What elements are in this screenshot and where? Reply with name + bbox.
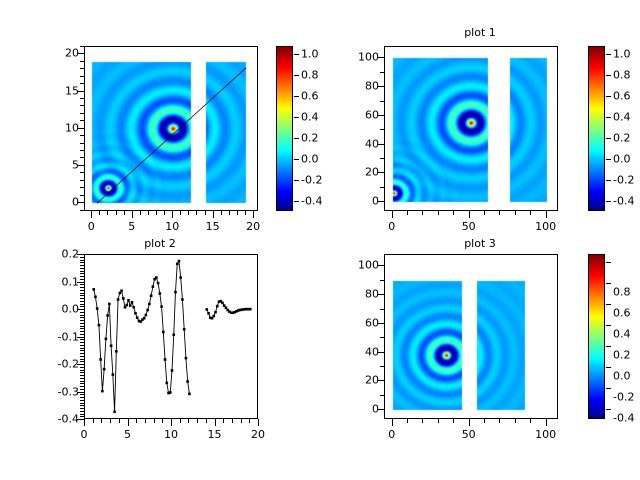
x-tick-label: 50 — [462, 428, 476, 441]
y-minor-tick — [80, 187, 84, 188]
data-point-marker — [96, 307, 99, 310]
y-minor-tick — [80, 135, 84, 136]
x-minor-tick — [407, 419, 408, 423]
y-minor-tick — [80, 276, 84, 277]
colorbar-tick — [606, 138, 611, 139]
y-tick-label: 15 — [46, 84, 79, 97]
y-minor-tick — [80, 268, 84, 269]
colorbar-tick — [606, 159, 611, 160]
y-tick-label: -0.1 — [46, 330, 79, 343]
y-minor-tick — [80, 356, 84, 357]
colorbar-tick — [606, 346, 611, 347]
y-minor-tick — [80, 345, 84, 346]
data-point-marker — [214, 311, 217, 314]
data-point-marker — [164, 358, 167, 361]
x-major-tick — [392, 211, 393, 218]
x-minor-tick — [110, 419, 111, 423]
y-tick-label: 0 — [346, 402, 379, 415]
colorbar-tick-label: -0.2 — [613, 390, 634, 403]
x-minor-tick — [107, 211, 108, 215]
colorbar-tick — [606, 262, 611, 263]
y-minor-tick — [380, 187, 384, 188]
y-minor-tick — [80, 400, 84, 401]
panel-bottom-right-colorbar — [588, 254, 605, 419]
x-major-tick — [253, 211, 254, 218]
data-point-marker — [216, 305, 219, 308]
y-minor-tick — [80, 339, 84, 340]
y-minor-tick — [80, 295, 84, 296]
data-point-marker — [150, 294, 153, 297]
colorbar-tick-label: 1.0 — [613, 48, 631, 61]
y-minor-tick — [380, 280, 384, 281]
x-minor-tick — [530, 211, 531, 215]
data-point-marker — [221, 302, 224, 305]
x-tick-label: 0 — [388, 220, 395, 233]
data-point-marker — [117, 298, 120, 301]
data-point-marker — [148, 303, 151, 306]
y-minor-tick — [80, 76, 84, 77]
y-tick-label: 60 — [346, 108, 379, 121]
x-minor-tick — [237, 211, 238, 215]
colorbar-tick — [294, 117, 299, 118]
data-point-marker — [110, 344, 113, 347]
x-minor-tick — [180, 419, 181, 423]
data-point-marker — [108, 303, 111, 306]
data-point-marker — [94, 296, 97, 299]
colorbar-tick-label: 0.8 — [613, 286, 631, 299]
x-major-tick — [172, 211, 173, 218]
y-tick-label: 0.1 — [46, 275, 79, 288]
data-point-marker — [132, 306, 135, 309]
x-minor-tick — [484, 419, 485, 423]
data-point-marker — [105, 338, 108, 341]
data-point-marker — [160, 305, 163, 308]
x-minor-tick — [223, 419, 224, 423]
panel-bottom-right-colorbar-gradient — [589, 255, 605, 419]
y-minor-tick — [80, 293, 84, 294]
x-minor-tick — [484, 211, 485, 215]
colorbar-tick — [606, 304, 611, 305]
x-minor-tick — [422, 419, 423, 423]
y-minor-tick — [80, 367, 84, 368]
data-point-marker — [183, 328, 186, 331]
x-tick-label: 20 — [251, 428, 265, 441]
data-point-marker — [106, 314, 109, 317]
y-minor-tick — [80, 408, 84, 409]
y-minor-tick — [80, 271, 84, 272]
y-minor-tick — [80, 61, 84, 62]
y-minor-tick — [80, 46, 84, 47]
y-minor-tick — [80, 260, 84, 261]
data-point-marker — [98, 324, 101, 327]
colorbar-tick — [606, 96, 611, 97]
x-minor-tick — [499, 419, 500, 423]
y-minor-tick — [80, 397, 84, 398]
x-minor-tick — [180, 211, 181, 215]
y-tick-label: 5 — [46, 158, 79, 171]
x-major-tick — [469, 211, 470, 218]
x-tick-label: 15 — [208, 428, 222, 441]
x-minor-tick — [249, 419, 250, 423]
data-point-marker — [120, 289, 123, 292]
data-point-marker — [186, 380, 189, 383]
colorbar-tick — [606, 180, 611, 181]
colorbar-tick-label: 0.8 — [613, 69, 631, 82]
diagonal-overlay-line — [97, 68, 246, 203]
data-point-marker — [129, 304, 132, 307]
y-minor-tick — [380, 158, 384, 159]
y-minor-tick — [80, 403, 84, 404]
y-minor-tick — [80, 68, 84, 69]
x-major-tick — [546, 419, 547, 426]
y-minor-tick — [80, 105, 84, 106]
y-minor-tick — [80, 284, 84, 285]
x-minor-tick — [453, 211, 454, 215]
y-minor-tick — [80, 389, 84, 390]
panel-bottom-left: plot 2 051015200.20.10.0-0.1-0.2-0.3-0.4 — [0, 240, 320, 480]
x-minor-tick — [197, 419, 198, 423]
data-point-marker — [155, 276, 158, 279]
data-point-marker — [125, 304, 128, 307]
colorbar-tick-label: 0.2 — [301, 131, 319, 144]
y-tick-label: 20 — [46, 47, 79, 60]
y-minor-tick — [80, 350, 84, 351]
x-minor-tick — [221, 211, 222, 215]
x-minor-tick — [101, 419, 102, 423]
data-point-marker — [165, 382, 168, 385]
x-tick-label: 50 — [462, 220, 476, 233]
colorbar-tick-label: 0.4 — [613, 111, 631, 124]
y-tick-label: 0.2 — [46, 248, 79, 261]
colorbar-tick — [606, 325, 611, 326]
x-tick-label: 5 — [124, 428, 131, 441]
x-major-tick — [392, 419, 393, 426]
x-tick-label: 20 — [246, 220, 260, 233]
colorbar-tick-label: 0.4 — [613, 328, 631, 341]
y-minor-tick — [80, 304, 84, 305]
colorbar-tick-label: 0.0 — [613, 152, 631, 165]
y-tick-label: -0.3 — [46, 385, 79, 398]
colorbar-tick — [606, 388, 611, 389]
y-minor-tick — [380, 129, 384, 130]
y-minor-tick — [380, 101, 384, 102]
y-tick-label: 80 — [346, 288, 379, 301]
x-major-tick — [469, 419, 470, 426]
x-minor-tick — [530, 419, 531, 423]
y-minor-tick — [80, 414, 84, 415]
x-major-tick — [171, 419, 172, 426]
data-point-marker — [134, 312, 137, 315]
x-minor-tick — [124, 211, 125, 215]
y-minor-tick — [80, 342, 84, 343]
y-minor-tick — [380, 366, 384, 367]
x-minor-tick — [438, 419, 439, 423]
panel-top-left: 0510152005101520 1.00.80.60.40.20.0-0.2-… — [0, 0, 320, 240]
panel-top-right-axes — [384, 46, 558, 211]
y-minor-tick — [80, 383, 84, 384]
y-tick-label: 60 — [346, 316, 379, 329]
x-tick-label: 10 — [164, 428, 178, 441]
y-minor-tick — [380, 395, 384, 396]
data-point-marker — [185, 357, 188, 360]
panel-top-left-axes — [84, 46, 258, 211]
x-minor-tick — [140, 211, 141, 215]
data-point-marker — [122, 297, 125, 300]
y-minor-tick — [80, 290, 84, 291]
x-major-tick — [91, 211, 92, 218]
x-minor-tick — [188, 211, 189, 215]
data-point-marker — [103, 368, 106, 371]
panel-top-left-colorbar-gradient — [277, 47, 293, 211]
x-tick-label: 100 — [535, 220, 556, 233]
panel-top-right-colorbar — [588, 46, 605, 211]
figure-canvas: 0510152005101520 1.00.80.60.40.20.0-0.2-… — [0, 0, 640, 480]
colorbar-tick-label: 0.6 — [301, 90, 319, 103]
data-point-marker — [207, 312, 210, 315]
y-minor-tick — [80, 331, 84, 332]
data-point-marker — [174, 291, 177, 294]
y-minor-tick — [80, 312, 84, 313]
data-point-marker — [157, 282, 160, 285]
colorbar-tick-label: -0.2 — [613, 173, 634, 186]
colorbar-tick — [606, 117, 611, 118]
x-minor-tick — [499, 211, 500, 215]
x-minor-tick — [136, 419, 137, 423]
colorbar-tick — [606, 75, 611, 76]
colorbar-tick-label: -0.4 — [613, 194, 634, 207]
data-point-marker — [249, 308, 252, 311]
data-point-marker — [178, 260, 181, 263]
y-tick-label: 20 — [346, 374, 379, 387]
y-minor-tick — [380, 337, 384, 338]
colorbar-tick — [606, 201, 611, 202]
colorbar-tick-label: 0.4 — [301, 111, 319, 124]
data-point-marker — [152, 285, 155, 288]
x-minor-tick — [515, 211, 516, 215]
data-point-marker — [127, 299, 130, 302]
colorbar-tick-label: 0.2 — [613, 348, 631, 361]
y-minor-tick — [80, 328, 84, 329]
y-minor-tick — [80, 416, 84, 417]
panel-bottom-right-title: plot 3 — [320, 237, 640, 250]
y-minor-tick — [80, 353, 84, 354]
y-minor-tick — [80, 375, 84, 376]
panel-bottom-right: plot 3 050100020406080100 0.80.60.40.20.… — [320, 240, 640, 480]
colorbar-tick — [294, 201, 299, 202]
x-major-tick — [215, 419, 216, 426]
x-major-tick — [546, 211, 547, 218]
x-minor-tick — [188, 419, 189, 423]
y-tick-label: 100 — [346, 259, 379, 272]
x-minor-tick — [422, 211, 423, 215]
y-minor-tick — [80, 265, 84, 266]
y-tick-label: 80 — [346, 80, 379, 93]
x-minor-tick — [164, 211, 165, 215]
colorbar-tick-label: 0.0 — [613, 369, 631, 382]
x-tick-label: 0 — [81, 428, 88, 441]
colorbar-tick-label: 0.6 — [613, 90, 631, 103]
data-point-marker — [92, 288, 95, 291]
data-point-marker — [131, 301, 134, 304]
data-point-marker — [162, 331, 165, 334]
y-tick-label: -0.2 — [46, 358, 79, 371]
y-minor-tick — [80, 315, 84, 316]
y-minor-tick — [80, 150, 84, 151]
x-major-tick — [84, 419, 85, 426]
y-minor-tick — [80, 180, 84, 181]
y-minor-tick — [80, 143, 84, 144]
data-point-marker — [145, 314, 148, 317]
panel-top-right-colorbar-gradient — [589, 47, 605, 211]
data-point-marker — [181, 298, 184, 301]
y-minor-tick — [80, 83, 84, 84]
x-tick-label: 10 — [165, 220, 179, 233]
y-minor-tick — [80, 372, 84, 373]
y-minor-tick — [80, 306, 84, 307]
y-tick-label: 40 — [346, 137, 379, 150]
panel-top-left-colorbar — [276, 46, 293, 211]
y-minor-tick — [80, 113, 84, 114]
colorbar-tick — [606, 283, 611, 284]
y-minor-tick — [80, 323, 84, 324]
x-minor-tick — [145, 419, 146, 423]
x-minor-tick — [245, 211, 246, 215]
data-point-marker — [146, 309, 149, 312]
x-minor-tick — [438, 211, 439, 215]
y-minor-tick — [80, 334, 84, 335]
y-minor-tick — [80, 98, 84, 99]
colorbar-tick — [294, 96, 299, 97]
x-tick-label: 15 — [206, 220, 220, 233]
data-point-marker — [172, 333, 175, 336]
data-point-marker — [188, 393, 191, 396]
x-minor-tick — [99, 211, 100, 215]
y-tick-label: 40 — [346, 345, 379, 358]
y-minor-tick — [80, 320, 84, 321]
data-point-marker — [176, 263, 179, 266]
y-minor-tick — [80, 273, 84, 274]
x-major-tick — [132, 211, 133, 218]
y-tick-label: 20 — [346, 166, 379, 179]
data-point-marker — [179, 276, 182, 279]
x-minor-tick — [119, 419, 120, 423]
data-point-marker — [99, 358, 102, 361]
x-minor-tick — [162, 419, 163, 423]
y-minor-tick — [80, 195, 84, 196]
data-point-marker — [171, 369, 174, 372]
y-minor-tick — [80, 120, 84, 121]
colorbar-tick — [294, 54, 299, 55]
y-minor-tick — [80, 348, 84, 349]
panel-bottom-left-line-series — [85, 255, 258, 419]
y-tick-label: 10 — [46, 121, 79, 134]
y-minor-tick — [80, 157, 84, 158]
x-major-tick — [258, 419, 259, 426]
colorbar-tick — [294, 138, 299, 139]
panel-top-right-title: plot 1 — [320, 26, 640, 39]
y-minor-tick — [80, 172, 84, 173]
colorbar-tick-label: 0.6 — [613, 307, 631, 320]
y-minor-tick — [80, 210, 84, 211]
y-minor-tick — [380, 72, 384, 73]
x-minor-tick — [515, 419, 516, 423]
y-minor-tick — [80, 405, 84, 406]
colorbar-tick-label: 0.8 — [301, 69, 319, 82]
y-minor-tick — [380, 309, 384, 310]
x-minor-tick — [196, 211, 197, 215]
x-major-tick — [128, 419, 129, 426]
x-minor-tick — [156, 211, 157, 215]
y-minor-tick — [80, 361, 84, 362]
panel-top-right-heatmap — [385, 47, 558, 211]
colorbar-tick — [294, 159, 299, 160]
data-point-marker — [143, 317, 146, 320]
x-tick-label: 0 — [388, 428, 395, 441]
x-tick-label: 5 — [128, 220, 135, 233]
x-minor-tick — [116, 211, 117, 215]
y-minor-tick — [80, 370, 84, 371]
x-minor-tick — [148, 211, 149, 215]
x-minor-tick — [407, 211, 408, 215]
colorbar-tick-label: 1.0 — [301, 48, 319, 61]
x-minor-tick — [206, 419, 207, 423]
y-minor-tick — [80, 301, 84, 302]
y-minor-tick — [80, 386, 84, 387]
panel-top-right: plot 1 050100020406080100 1.00.80.60.40.… — [320, 0, 640, 240]
colorbar-tick — [606, 54, 611, 55]
x-minor-tick — [93, 419, 94, 423]
x-major-tick — [213, 211, 214, 218]
x-minor-tick — [205, 211, 206, 215]
y-minor-tick — [80, 411, 84, 412]
y-minor-tick — [80, 326, 84, 327]
colorbar-tick-label: -0.4 — [613, 411, 634, 424]
y-minor-tick — [80, 279, 84, 280]
panel-bottom-right-heatmap — [385, 255, 558, 419]
x-minor-tick — [241, 419, 242, 423]
colorbar-tick — [606, 409, 611, 410]
y-tick-label: 0 — [46, 196, 79, 209]
panel-bottom-right-axes — [384, 254, 558, 419]
data-point-marker — [101, 390, 104, 393]
x-tick-label: 100 — [535, 428, 556, 441]
x-minor-tick — [232, 419, 233, 423]
y-tick-label: 100 — [346, 51, 379, 64]
x-minor-tick — [229, 211, 230, 215]
colorbar-tick-label: 0.2 — [613, 131, 631, 144]
y-minor-tick — [80, 287, 84, 288]
line-path — [94, 261, 190, 412]
panel-top-left-diagonal-line — [85, 47, 258, 211]
colorbar-tick — [606, 367, 611, 368]
colorbar-tick — [294, 75, 299, 76]
data-point-marker — [159, 292, 162, 295]
data-point-marker — [206, 308, 209, 311]
x-minor-tick — [154, 419, 155, 423]
y-tick-label: 0.0 — [46, 303, 79, 316]
y-minor-tick — [80, 378, 84, 379]
data-point-marker — [169, 391, 172, 394]
y-minor-tick — [80, 298, 84, 299]
panel-bottom-left-axes — [84, 254, 258, 419]
y-minor-tick — [80, 359, 84, 360]
y-tick-label: 0 — [346, 194, 379, 207]
x-minor-tick — [453, 419, 454, 423]
colorbar-tick-label: 0.0 — [301, 152, 319, 165]
data-point-marker — [112, 373, 115, 376]
y-minor-tick — [80, 257, 84, 258]
y-minor-tick — [80, 394, 84, 395]
